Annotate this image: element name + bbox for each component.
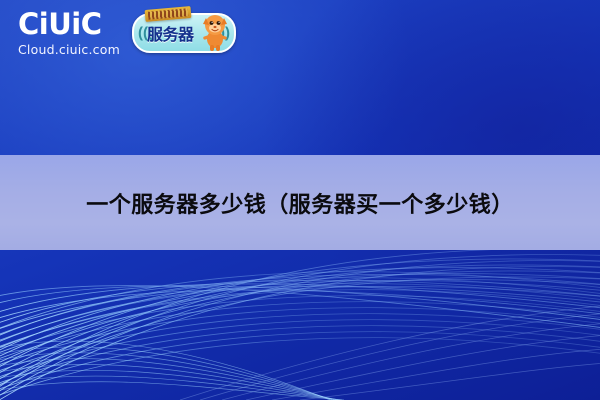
brand-domain: Cloud.ciuic.com <box>18 44 120 57</box>
header-bar: CiUiC Cloud.ciuic.com ((( 服务器 ))) <box>0 0 600 66</box>
ribbon-icon <box>145 6 192 22</box>
banner-image: CiUiC Cloud.ciuic.com ((( 服务器 ))) <box>0 0 600 400</box>
page-title: 一个服务器多少钱（服务器买一个多少钱） <box>86 187 514 219</box>
server-badge[interactable]: ((( 服务器 ))) <box>132 13 236 53</box>
brand-logo[interactable]: CiUiC Cloud.ciuic.com <box>18 10 120 57</box>
server-badge-label: 服务器 <box>147 21 194 45</box>
brand-name: CiUiC <box>18 10 102 39</box>
title-band: 一个服务器多少钱（服务器买一个多少钱） <box>0 155 600 250</box>
mascot-icon <box>198 12 232 52</box>
